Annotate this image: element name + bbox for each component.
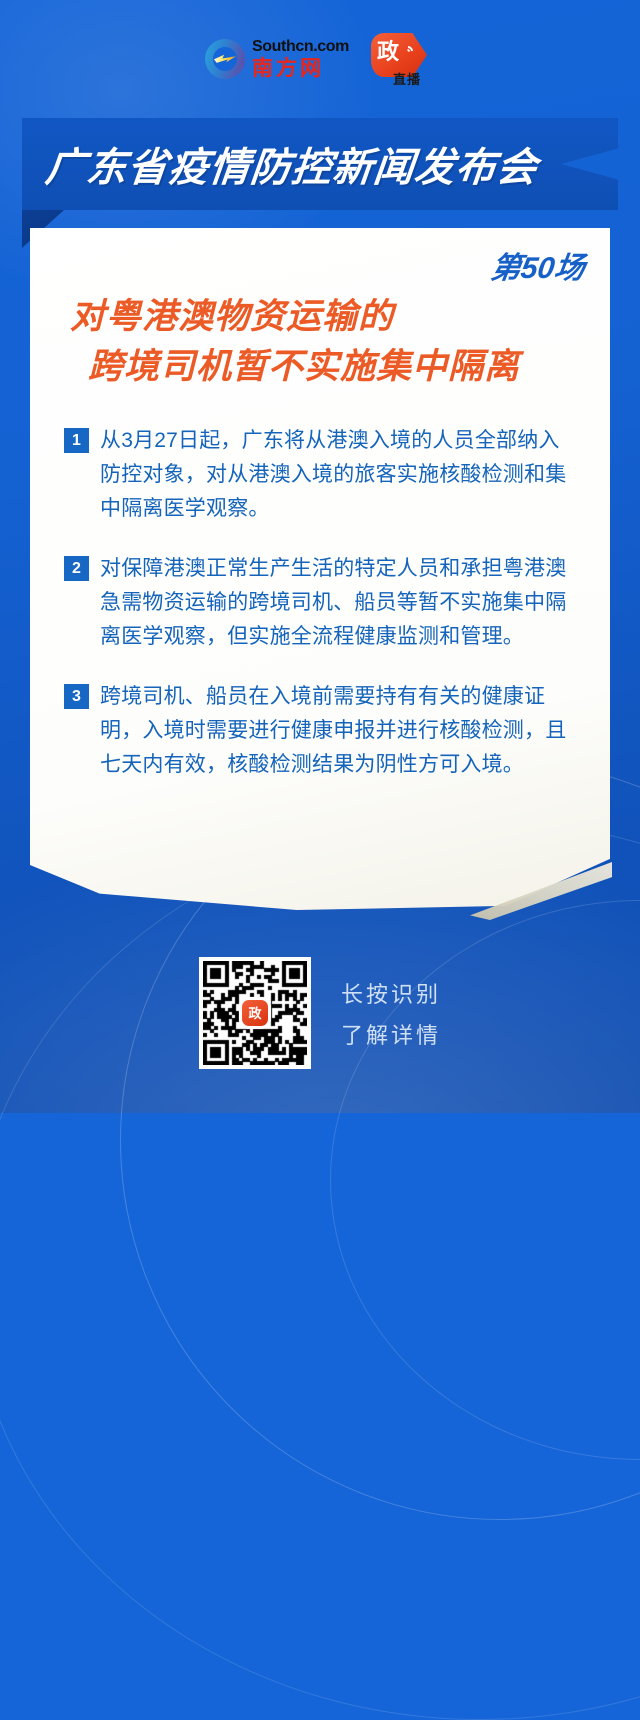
- southcn-logo-en: Southcn.com: [252, 39, 349, 55]
- point-text: 跨境司机、船员在入境前需要持有有关的健康证明，入境时需要进行健康申报并进行核酸检…: [100, 680, 576, 782]
- southcn-logo-cn: 南方网: [252, 58, 349, 79]
- list-item: 3 跨境司机、船员在入境前需要持有有关的健康证明，入境时需要进行健康申报并进行核…: [64, 680, 576, 782]
- qr-instruction-line-1: 长按识别: [341, 977, 441, 1009]
- zheng-char: 政: [377, 41, 399, 63]
- headline-line-2: 跨境司机暂不实施集中隔离: [88, 342, 540, 392]
- point-text: 对保障港澳正常生产生活的特定人员和承担粤港澳急需物资运输的跨境司机、船员等暂不实…: [100, 552, 576, 654]
- headline: 对粤港澳物资运输的 跨境司机暂不实施集中隔离: [70, 292, 540, 391]
- session-badge: 第50场: [489, 254, 587, 284]
- southcn-logo[interactable]: Southcn.com 南方网: [205, 39, 349, 79]
- live-label: 直播: [393, 69, 421, 88]
- qr-center-logo: 政: [242, 1000, 268, 1026]
- point-number: 2: [64, 556, 89, 581]
- point-text: 从3月27日起，广东将从港澳入境的人员全部纳入防控对象，对从港澳入境的旅客实施核…: [100, 424, 576, 526]
- banner-title: 广东省疫情防控新闻发布会: [43, 135, 541, 193]
- southcn-swan-icon: [205, 39, 245, 79]
- list-item: 1 从3月27日起，广东将从港澳入境的人员全部纳入防控对象，对从港澳入境的旅客实…: [64, 424, 576, 526]
- logo-bar: Southcn.com 南方网 政 直播: [0, 26, 640, 92]
- headline-line-1: 对粤港澳物资运输的: [70, 292, 540, 342]
- qr-logo-char: 政: [248, 1007, 261, 1020]
- header-banner-wrap: 广东省疫情防控新闻发布会: [0, 118, 640, 224]
- list-item: 2 对保障港澳正常生产生活的特定人员和承担粤港澳急需物资运输的跨境司机、船员等暂…: [64, 552, 576, 654]
- zheng-live-logo[interactable]: 政 直播: [371, 33, 435, 85]
- point-number: 3: [64, 684, 89, 709]
- signal-wave-icon: [404, 44, 419, 60]
- qr-code[interactable]: 政: [199, 957, 311, 1069]
- qr-instructions: 长按识别 了解详情: [341, 977, 441, 1050]
- content-card: 第50场 对粤港澳物资运输的 跨境司机暂不实施集中隔离 1 从3月27日起，广东…: [30, 228, 610, 910]
- header-banner: 广东省疫情防控新闻发布会: [22, 118, 618, 210]
- point-number: 1: [64, 428, 89, 453]
- points-list: 1 从3月27日起，广东将从港澳入境的人员全部纳入防控对象，对从港澳入境的旅客实…: [64, 424, 576, 808]
- footer: 政 长按识别 了解详情: [0, 948, 640, 1078]
- qr-instruction-line-2: 了解详情: [341, 1018, 441, 1050]
